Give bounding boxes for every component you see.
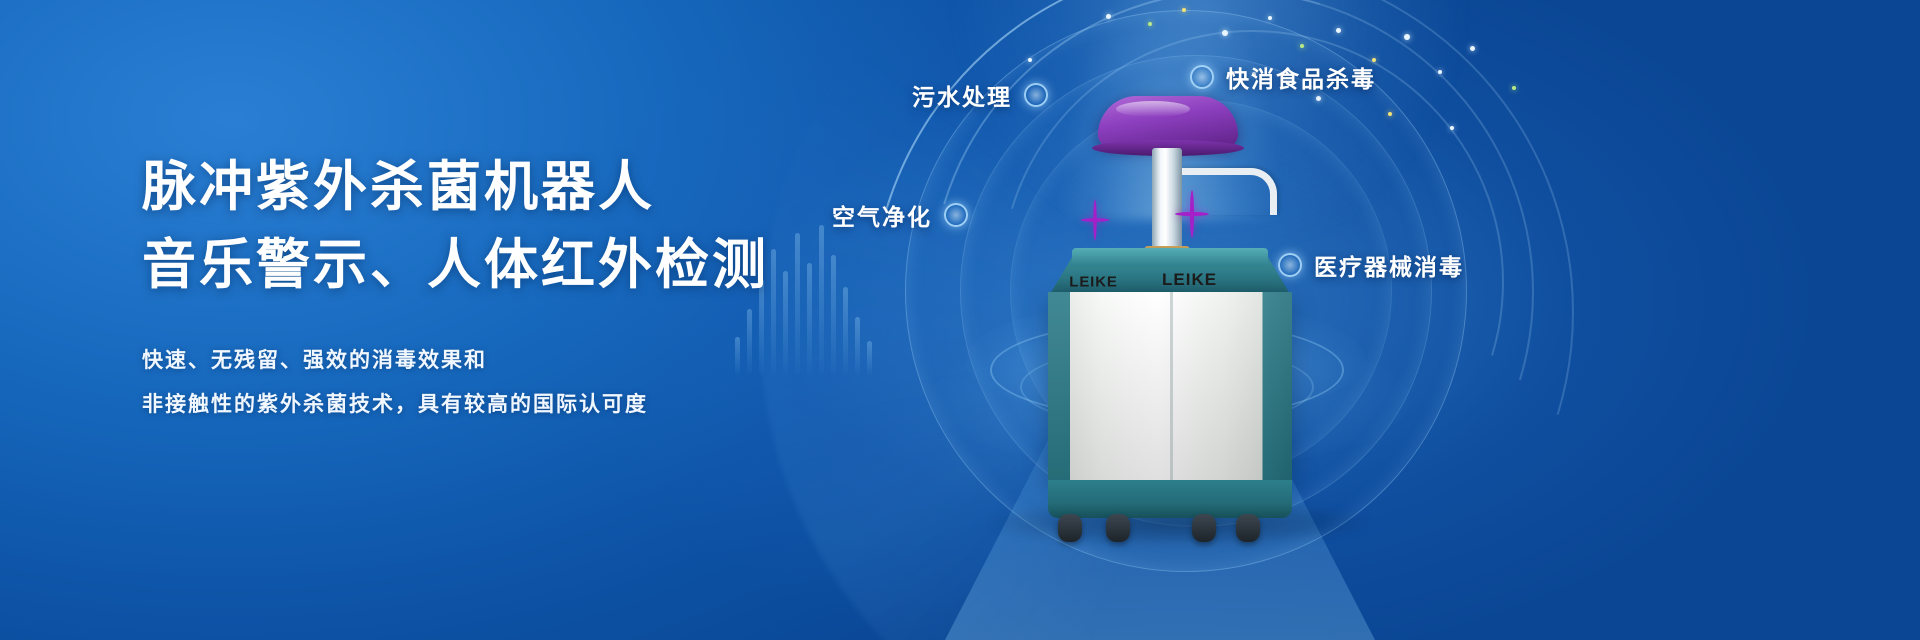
- particle-dot: [1268, 16, 1272, 20]
- feature-callout-air-purify[interactable]: 空气净化: [832, 198, 968, 232]
- caster-wheel: [1192, 514, 1216, 542]
- node-dot-icon: [1190, 65, 1214, 89]
- particle-dot: [1404, 34, 1410, 40]
- headline-primary: 脉冲紫外杀菌机器人: [142, 150, 862, 222]
- product-uv-robot: LEIKE LEIKE: [1020, 96, 1320, 496]
- cabinet-seam: [1170, 292, 1173, 480]
- subcopy-block: 快速、无残留、强效的消毒效果和 非接触性的紫外杀菌技术，具有较高的国际认可度: [142, 338, 862, 426]
- headline-secondary: 音乐警示、人体红外检测: [142, 228, 862, 300]
- particle-dot: [1470, 46, 1475, 51]
- sparkle-icon: [1081, 200, 1110, 241]
- brand-logo-right: LEIKE: [1162, 270, 1217, 290]
- banner-copy: 脉冲紫外杀菌机器人 音乐警示、人体红外检测 快速、无残留、强效的消毒效果和 非接…: [142, 150, 862, 426]
- promo-banner: 脉冲紫外杀菌机器人 音乐警示、人体红外检测 快速、无残留、强效的消毒效果和 非接…: [0, 0, 1920, 640]
- subcopy-line-2: 非接触性的紫外杀菌技术，具有较高的国际认可度: [142, 382, 862, 426]
- particle-dot: [1512, 86, 1516, 90]
- particle-dot: [1148, 22, 1152, 26]
- caster-wheel: [1236, 514, 1260, 542]
- sparkle-icon: [1175, 190, 1209, 238]
- particle-dot: [1182, 8, 1186, 12]
- feature-callout-food-sterilize[interactable]: 快消食品杀毒: [1190, 60, 1376, 94]
- particle-dot: [1438, 70, 1442, 74]
- feature-label: 污水处理: [912, 78, 1012, 112]
- feature-label: 空气净化: [832, 198, 932, 232]
- node-dot-icon: [944, 203, 968, 227]
- feature-label: 医疗器械消毒: [1314, 248, 1464, 282]
- lamp-dome-highlight: [1116, 101, 1190, 117]
- particle-dot: [1300, 44, 1304, 48]
- caster-wheel: [1106, 514, 1130, 542]
- caster-wheel: [1058, 514, 1082, 542]
- cabinet-top-face: [1072, 248, 1268, 266]
- brand-logo-left: LEIKE: [1069, 273, 1117, 291]
- particle-dot: [1028, 58, 1032, 62]
- cabinet-base: [1048, 480, 1292, 518]
- feature-label: 快消食品杀毒: [1226, 60, 1376, 94]
- particle-dot: [1106, 14, 1111, 19]
- particle-dot: [1336, 28, 1341, 33]
- particle-dot: [1450, 126, 1454, 130]
- particle-dot: [1222, 30, 1228, 36]
- subcopy-line-1: 快速、无残留、强效的消毒效果和: [142, 338, 862, 382]
- particle-dot: [1388, 112, 1392, 116]
